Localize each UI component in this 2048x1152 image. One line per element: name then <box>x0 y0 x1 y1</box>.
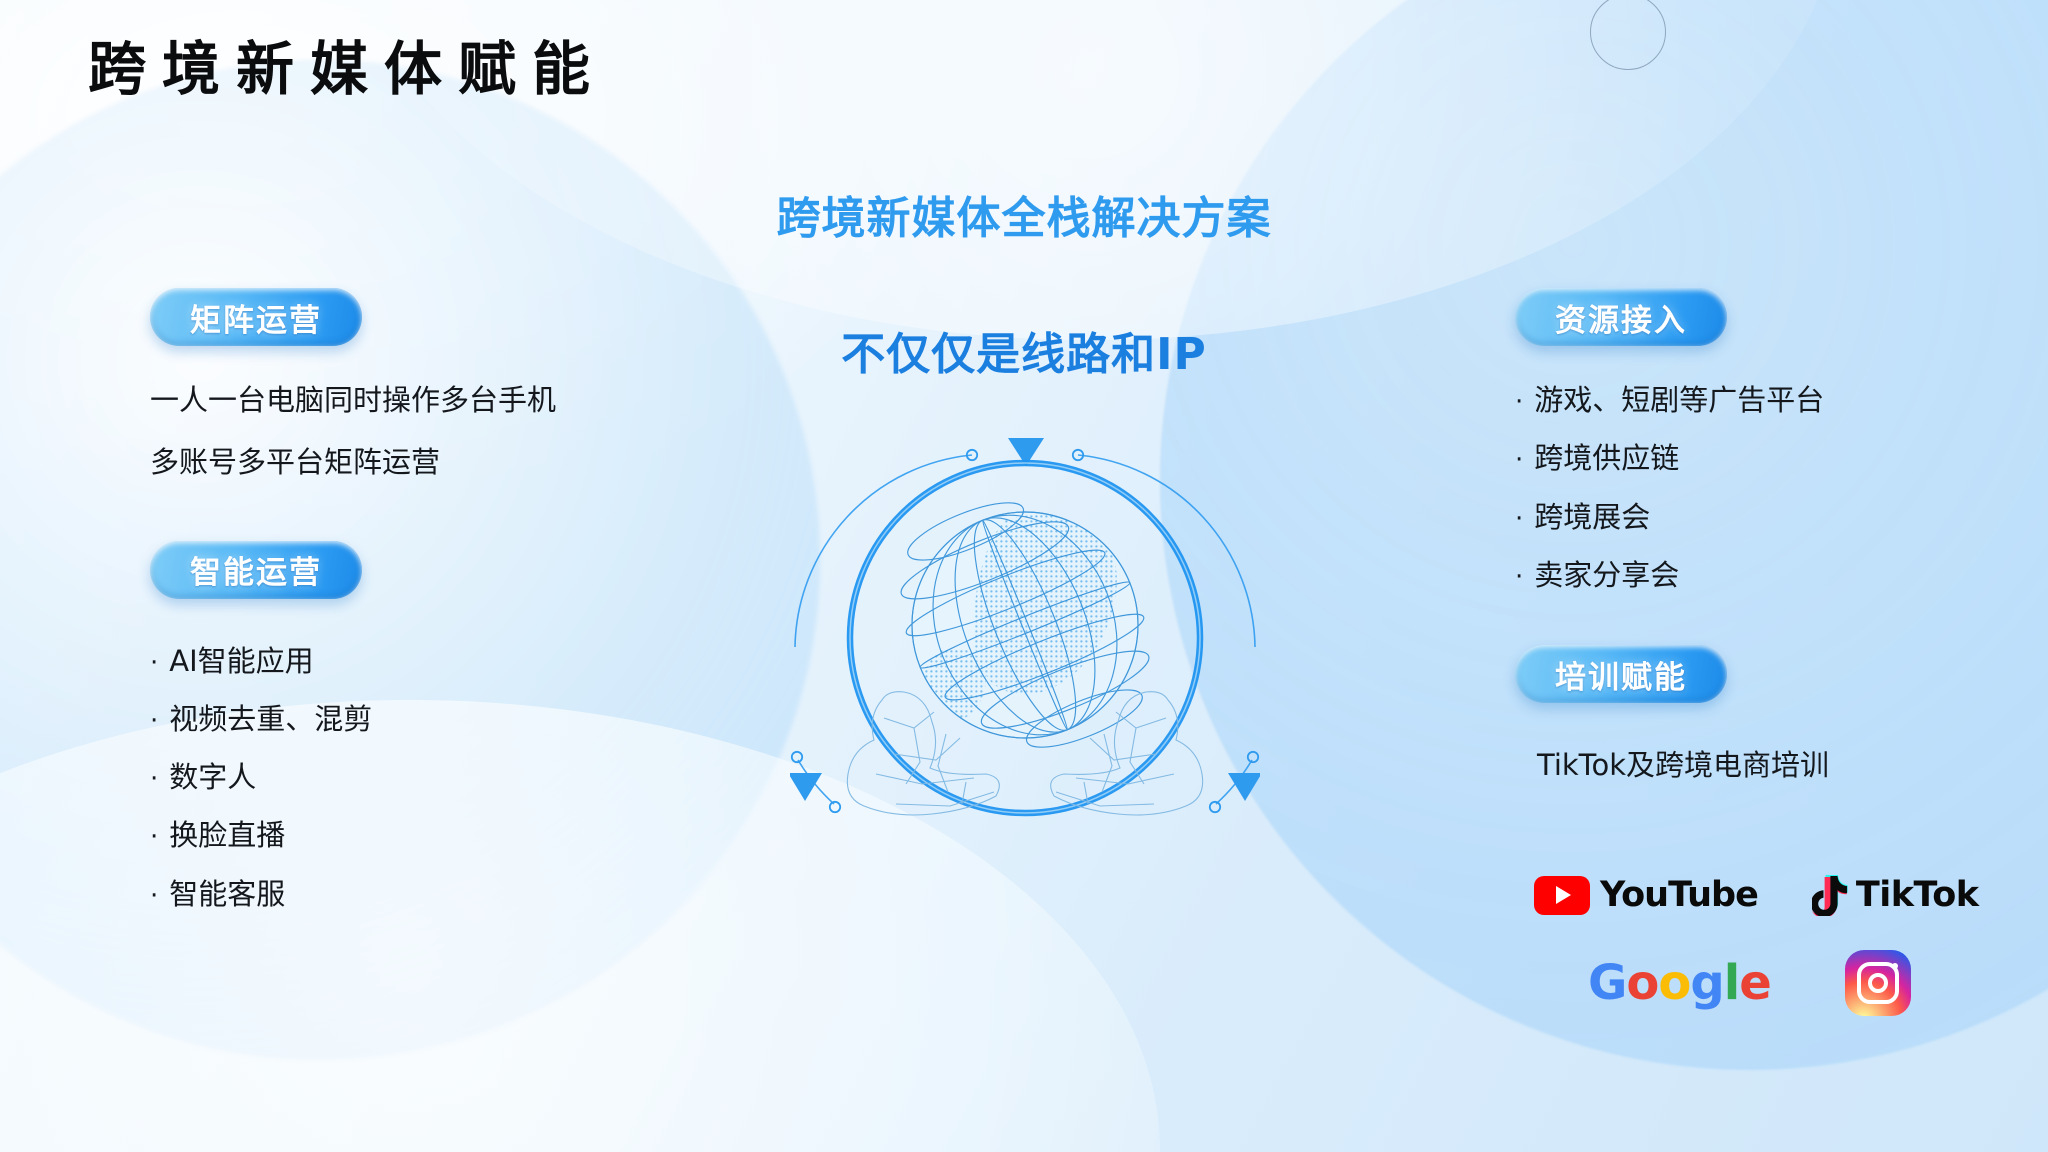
bullet-icon: · <box>150 708 158 734</box>
logo-row-top: YouTube TikTok <box>1528 874 2028 916</box>
list-item-label: 跨境供应链 <box>1534 440 1679 476</box>
globe-in-hands-illustration <box>790 400 1260 870</box>
list-item: · 数字人 <box>150 759 770 795</box>
section-smart-operations: 智能运营 · AI智能应用 · 视频去重、混剪 · 数字人 · 换脸直播 · 智… <box>150 541 770 912</box>
bullet-icon: · <box>1515 447 1523 473</box>
center-heading: 跨境新媒体全栈解决方案 <box>704 182 1344 246</box>
bullet-icon: · <box>1515 506 1523 532</box>
list-item-label: 智能客服 <box>169 876 285 912</box>
page-title: 跨境新媒体赋能 <box>88 38 606 102</box>
text-line: TikTok及跨境电商培训 <box>1515 747 2035 783</box>
list-item-label: 数字人 <box>169 759 256 795</box>
tiktok-note-icon <box>1812 874 1848 916</box>
badge-resource-access[interactable]: 资源接入 <box>1515 288 1727 346</box>
list-item-label: 卖家分享会 <box>1534 557 1679 593</box>
left-column: 矩阵运营 一人一台电脑同时操作多台手机 多账号多平台矩阵运营 智能运营 · AI… <box>150 288 770 912</box>
list-item: · 跨境供应链 <box>1515 440 2035 476</box>
badge-smart-operations[interactable]: 智能运营 <box>150 541 362 599</box>
list-item-label: 游戏、短剧等广告平台 <box>1534 382 1824 418</box>
badge-training-empowerment[interactable]: 培训赋能 <box>1515 645 1727 703</box>
list-item: · 视频去重、混剪 <box>150 701 770 737</box>
bullet-icon: · <box>150 883 158 909</box>
text-line: 多账号多平台矩阵运营 <box>150 444 770 480</box>
youtube-play-icon <box>1534 876 1590 915</box>
list-item: · AI智能应用 <box>150 643 770 679</box>
youtube-wordmark: YouTube <box>1600 875 1758 915</box>
center-subheading: 不仅仅是线路和IP <box>704 318 1344 382</box>
list-item: · 游戏、短剧等广告平台 <box>1515 382 2035 418</box>
list-item: · 跨境展会 <box>1515 499 2035 535</box>
youtube-logo[interactable]: YouTube <box>1534 875 1758 915</box>
list-item: · 卖家分享会 <box>1515 557 2035 593</box>
bullet-icon: · <box>150 766 158 792</box>
list-item: · 换脸直播 <box>150 817 770 853</box>
right-column: 资源接入 · 游戏、短剧等广告平台 · 跨境供应链 · 跨境展会 · 卖家分享会… <box>1515 288 2035 783</box>
list-item-label: AI智能应用 <box>169 643 313 679</box>
section-resource-access: 资源接入 · 游戏、短剧等广告平台 · 跨境供应链 · 跨境展会 · 卖家分享会 <box>1515 288 2035 593</box>
logo-row-bottom: Google <box>1528 950 2028 1016</box>
list-item: · 智能客服 <box>150 876 770 912</box>
bullet-icon: · <box>150 824 158 850</box>
list-item-label: 视频去重、混剪 <box>169 701 372 737</box>
partner-logo-grid: YouTube TikTok Google <box>1528 874 2028 1016</box>
bullet-icon: · <box>1515 564 1523 590</box>
tiktok-wordmark: TikTok <box>1856 875 1979 915</box>
bullet-icon: · <box>1515 389 1523 415</box>
section-training-empowerment: 培训赋能 TikTok及跨境电商培训 <box>1515 645 2035 783</box>
instagram-logo[interactable] <box>1845 950 1911 1016</box>
badge-matrix-operations[interactable]: 矩阵运营 <box>150 288 362 346</box>
list-item-label: 换脸直播 <box>169 817 285 853</box>
text-line: 一人一台电脑同时操作多台手机 <box>150 382 770 418</box>
bullet-icon: · <box>150 650 158 676</box>
tiktok-logo[interactable]: TikTok <box>1812 874 1979 916</box>
list-item-label: 跨境展会 <box>1534 499 1650 535</box>
google-logo[interactable]: Google <box>1588 955 1771 1011</box>
section-matrix-operations: 矩阵运营 一人一台电脑同时操作多台手机 多账号多平台矩阵运营 <box>150 288 770 481</box>
